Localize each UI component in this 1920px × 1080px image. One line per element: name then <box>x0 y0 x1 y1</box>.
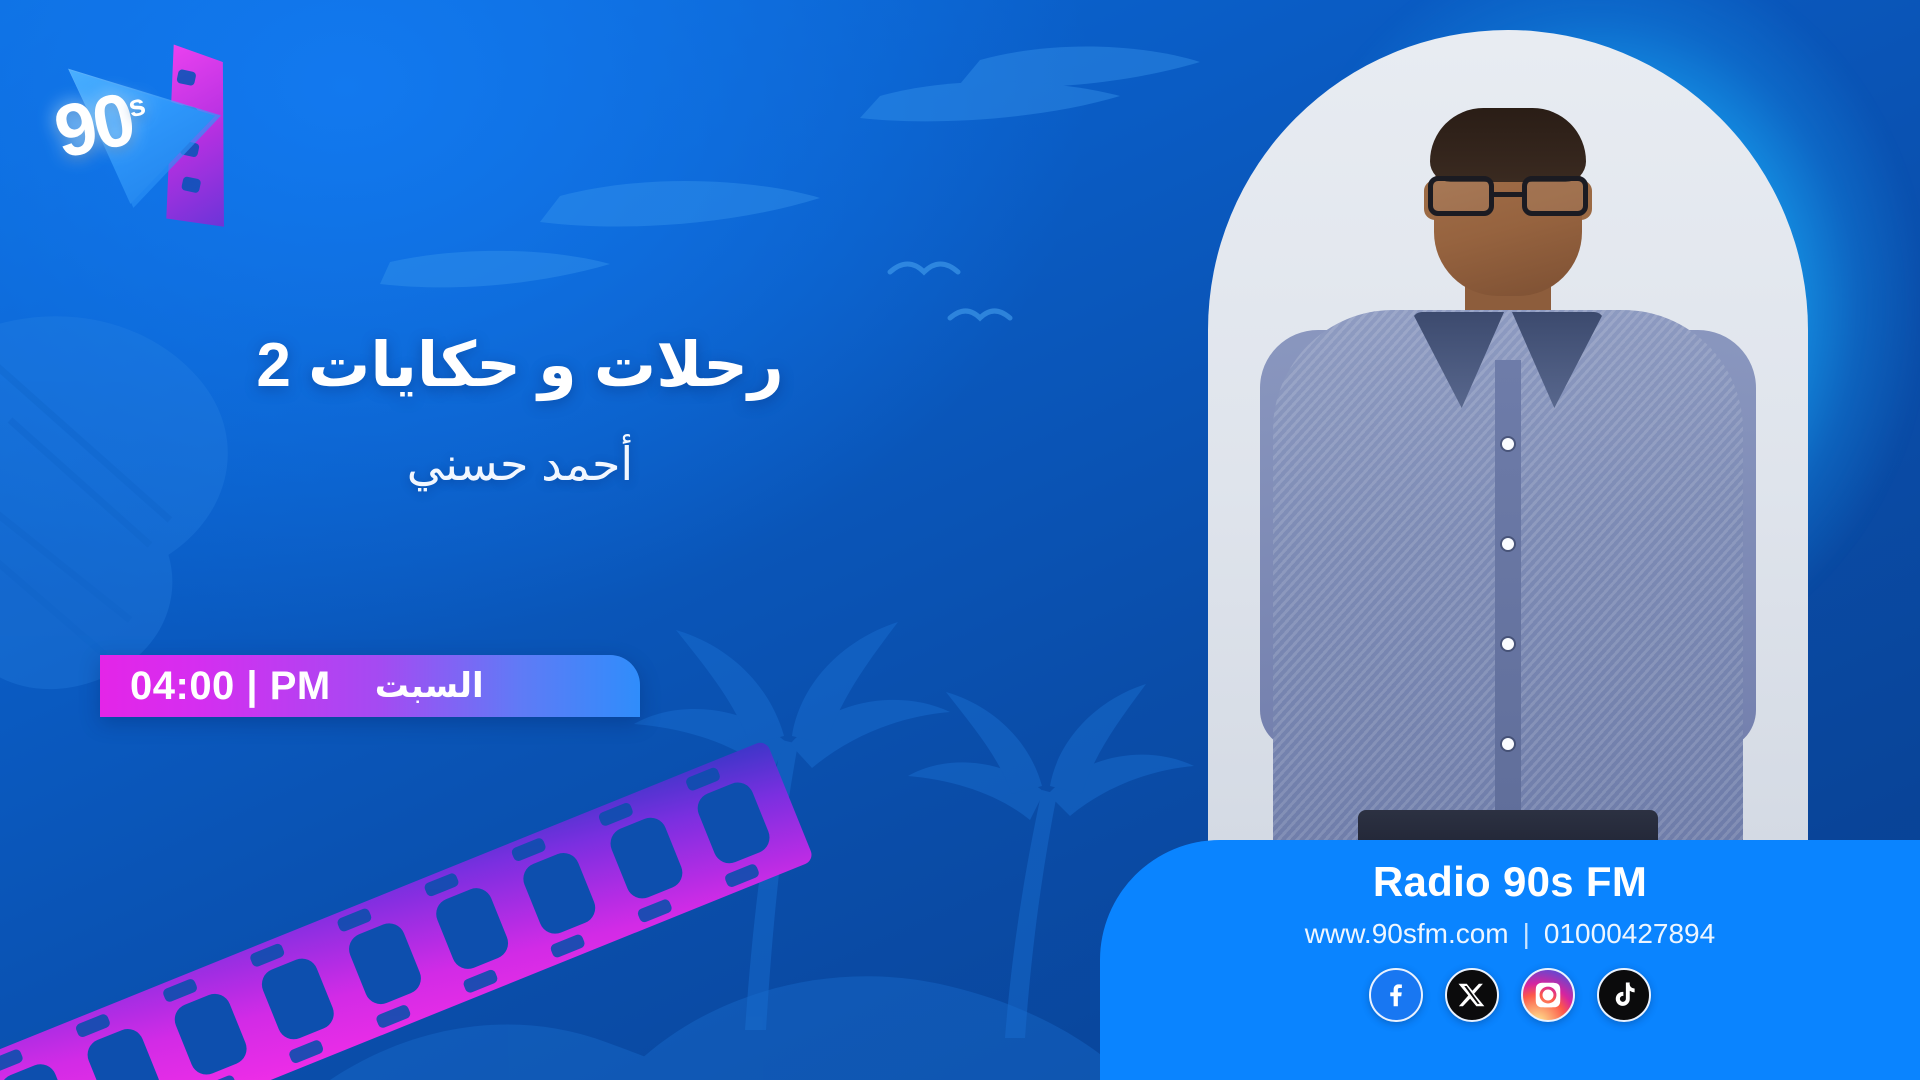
x-glyph <box>1457 980 1487 1010</box>
90s-logo[interactable]: 90s <box>34 36 252 226</box>
film-strip-decoration <box>0 790 840 1080</box>
station-website[interactable]: www.90sfm.com <box>1305 918 1509 950</box>
program-card: 90s رحلات و حكايات 2 أحمد حسني 04:00 | P… <box>0 0 1920 1080</box>
schedule-day: السبت <box>375 666 484 706</box>
x-twitter-icon[interactable] <box>1445 968 1499 1022</box>
show-title: رحلات و حكايات 2 <box>0 330 1040 401</box>
station-info-panel: Radio 90s FM www.90sfm.com | 01000427894 <box>1100 840 1920 1080</box>
tiktok-icon[interactable] <box>1597 968 1651 1022</box>
portrait-hair <box>1430 108 1586 182</box>
host-photo <box>1208 30 1808 850</box>
title-block: رحلات و حكايات 2 أحمد حسني <box>0 330 1040 491</box>
instagram-icon[interactable] <box>1521 968 1575 1022</box>
portrait-shirt-button <box>1502 738 1514 750</box>
glasses-bridge <box>1494 192 1522 197</box>
film-strip-svg <box>0 790 840 1080</box>
portrait-shirt-button <box>1502 638 1514 650</box>
schedule-time: 04:00 | PM <box>130 664 331 709</box>
glasses-lens-right <box>1522 176 1588 216</box>
facebook-icon[interactable] <box>1369 968 1423 1022</box>
instagram-glyph <box>1533 980 1563 1010</box>
station-name: Radio 90s FM <box>1373 858 1647 906</box>
glasses-lens-left <box>1428 176 1494 216</box>
portrait-shirt-button <box>1502 538 1514 550</box>
bird-shapes <box>890 264 1010 318</box>
tiktok-glyph <box>1609 980 1639 1010</box>
portrait-glasses <box>1428 176 1588 218</box>
host-portrait-illustration <box>1208 30 1808 850</box>
portrait-shirt-placket <box>1495 360 1521 850</box>
host-name: أحمد حسني <box>0 437 1040 491</box>
contact-separator: | <box>1523 918 1530 950</box>
station-phone[interactable]: 01000427894 <box>1544 918 1715 950</box>
schedule-badge: 04:00 | PM السبت <box>100 655 640 717</box>
station-contact-line: www.90sfm.com | 01000427894 <box>1305 918 1715 950</box>
portrait-shirt-button <box>1502 438 1514 450</box>
facebook-glyph <box>1381 980 1411 1010</box>
cloud-shapes <box>380 47 1200 288</box>
social-links <box>1369 968 1651 1022</box>
